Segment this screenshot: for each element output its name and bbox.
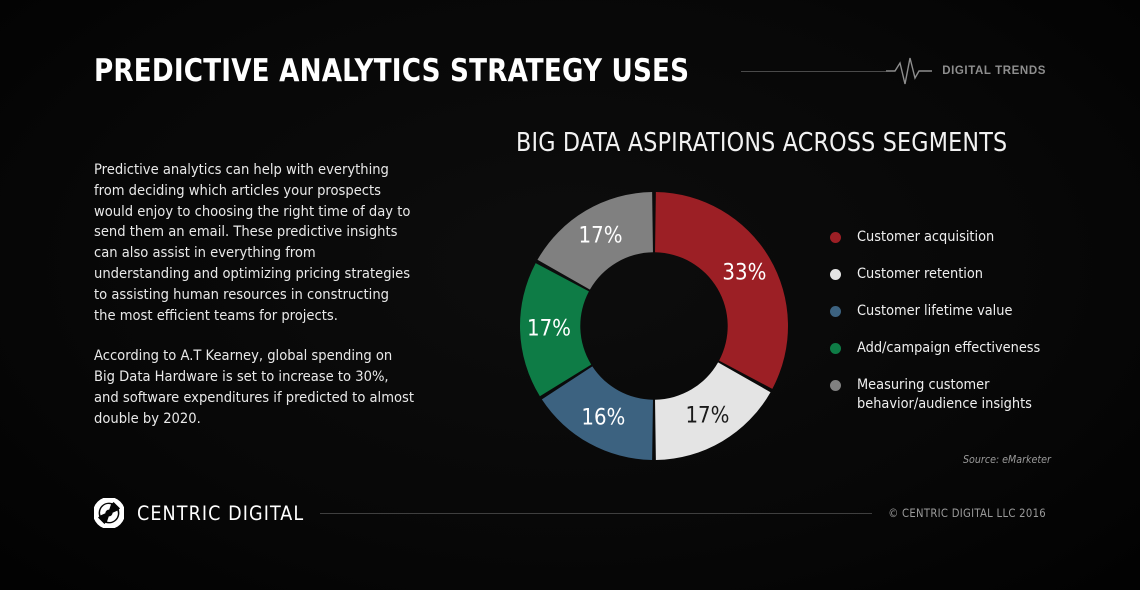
pulse-line-icon [886, 54, 932, 88]
body-paragraph-2: According to A.T Kearney, global spendin… [94, 346, 414, 429]
legend-color-swatch [830, 380, 841, 391]
legend-item[interactable]: Customer acquisition [830, 228, 1055, 247]
donut-chart: 33%17%16%17%17% [518, 190, 790, 462]
source-note: Source: eMarketer [963, 454, 1051, 466]
legend-item-label: Customer lifetime value [857, 302, 1012, 321]
header-divider [741, 71, 886, 72]
legend-item-label: Measuring customer behavior/audience ins… [857, 376, 1055, 414]
copyright-text: © CENTRIC DIGITAL LLC 2016 [888, 507, 1046, 520]
donut-slice[interactable] [655, 192, 788, 389]
chart-title: BIG DATA ASPIRATIONS ACROSS SEGMENTS [516, 128, 1007, 158]
legend-item[interactable]: Customer retention [830, 265, 1055, 284]
brand-label: DIGITAL TRENDS [942, 65, 1046, 77]
footer: CENTRIC DIGITAL © CENTRIC DIGITAL LLC 20… [94, 498, 1046, 528]
legend-color-swatch [830, 343, 841, 354]
legend-color-swatch [830, 306, 841, 317]
legend-item[interactable]: Customer lifetime value [830, 302, 1055, 321]
page-title: PREDICTIVE ANALYTICS STRATEGY USES [94, 53, 689, 89]
legend-item[interactable]: Add/campaign effectiveness [830, 339, 1055, 358]
chart-legend: Customer acquisitionCustomer retentionCu… [830, 228, 1055, 414]
legend-item-label: Customer retention [857, 265, 983, 284]
centric-circle-logo-icon [94, 498, 124, 528]
body-copy: Predictive analytics can help with every… [94, 160, 414, 430]
legend-item-label: Customer acquisition [857, 228, 994, 247]
legend-item[interactable]: Measuring customer behavior/audience ins… [830, 376, 1055, 414]
infographic-canvas: PREDICTIVE ANALYTICS STRATEGY USES DIGIT… [0, 0, 1140, 590]
header: PREDICTIVE ANALYTICS STRATEGY USES DIGIT… [94, 50, 1046, 92]
legend-color-swatch [830, 232, 841, 243]
legend-color-swatch [830, 269, 841, 280]
footer-divider [320, 513, 872, 514]
body-paragraph-1: Predictive analytics can help with every… [94, 160, 414, 326]
footer-logo-text: CENTRIC DIGITAL [137, 502, 304, 525]
legend-item-label: Add/campaign effectiveness [857, 339, 1040, 358]
donut-chart-svg [518, 190, 790, 462]
